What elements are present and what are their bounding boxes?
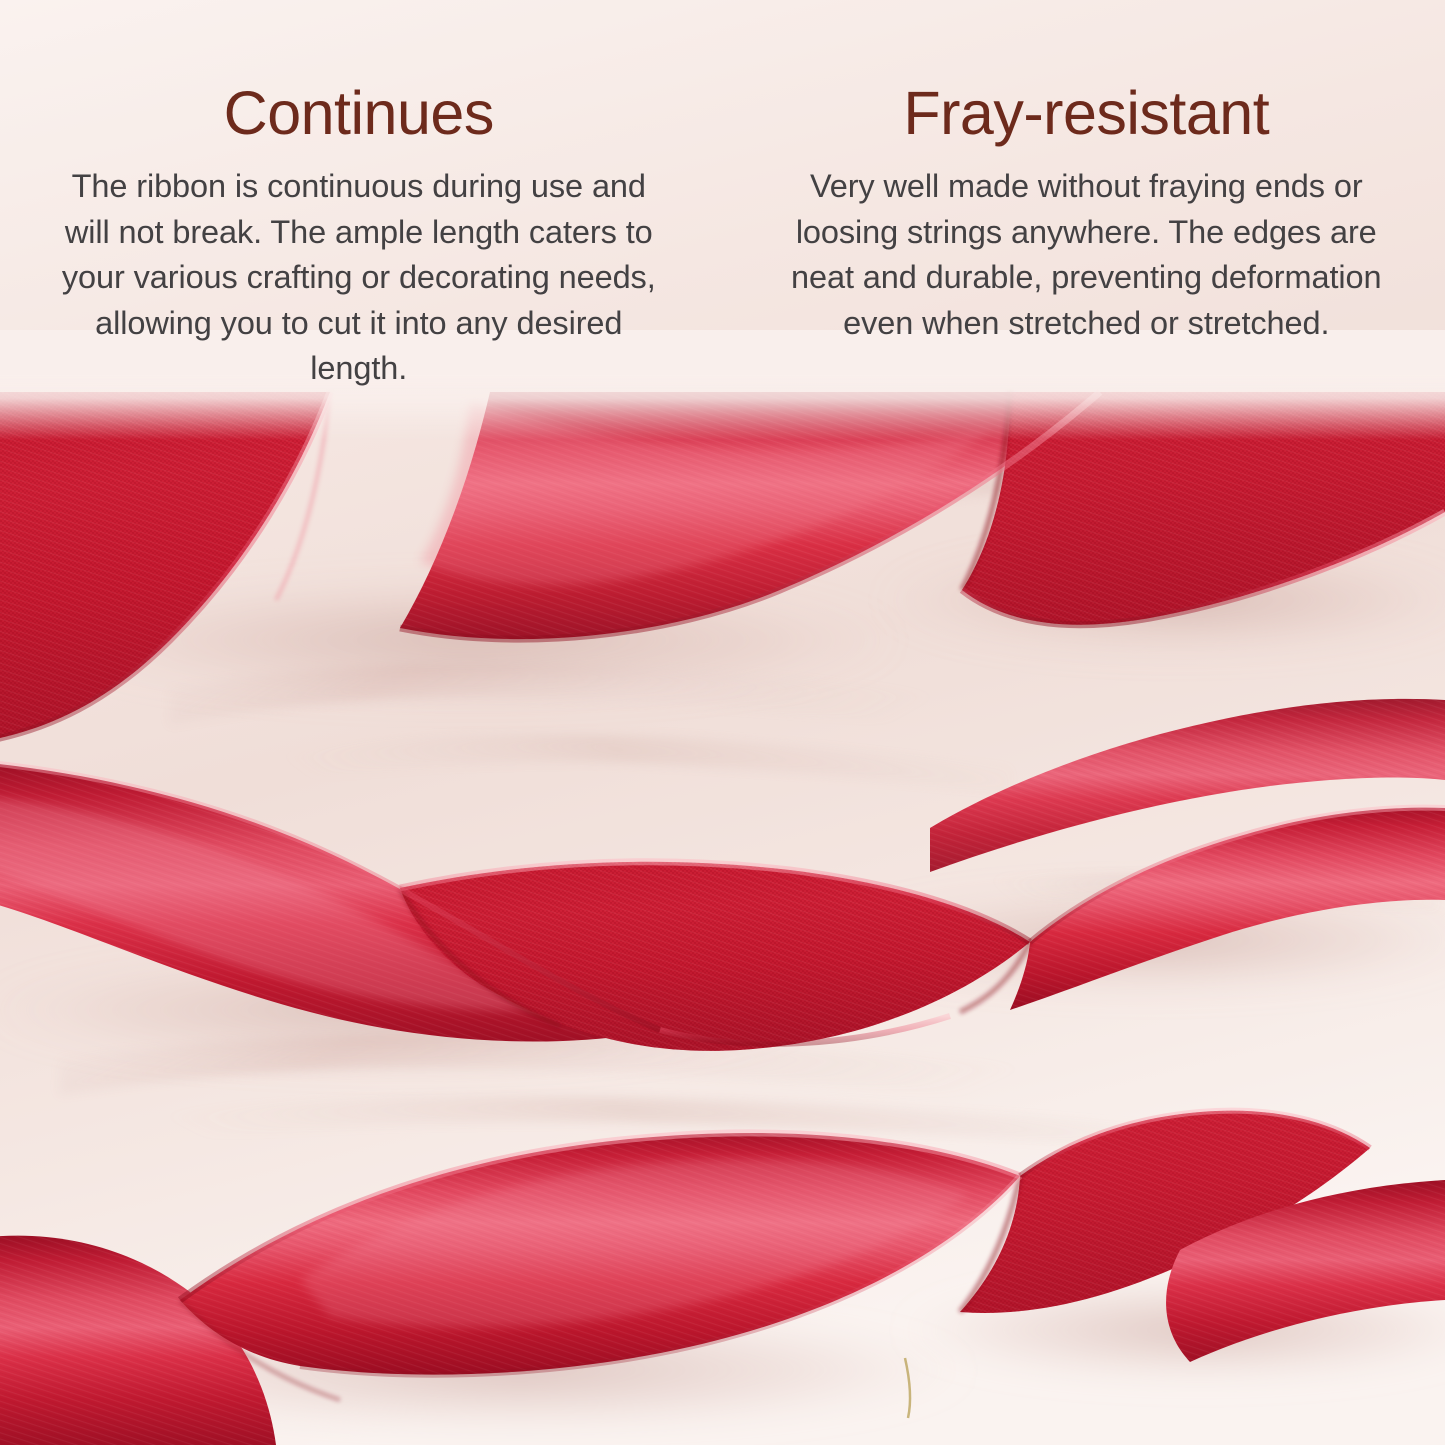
feature-title-continues: Continues	[55, 0, 663, 148]
product-feature-panel: Continues The ribbon is continuous durin…	[0, 0, 1445, 1445]
feature-column-continues: Continues The ribbon is continuous durin…	[0, 0, 723, 400]
feature-column-fray-resistant: Fray-resistant Very well made without fr…	[723, 0, 1445, 400]
feature-body-fray-resistant: Very well made without fraying ends or l…	[783, 148, 1391, 346]
feature-title-fray-resistant: Fray-resistant	[783, 0, 1391, 148]
feature-text-panel: Continues The ribbon is continuous durin…	[0, 0, 1445, 400]
feature-body-continues: The ribbon is continuous during use and …	[55, 148, 663, 392]
